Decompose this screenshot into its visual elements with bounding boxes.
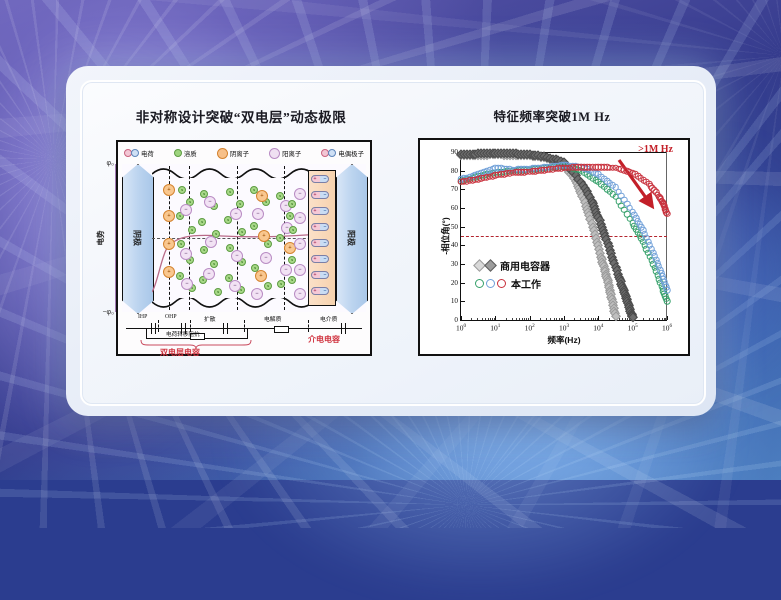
- x-tick-label: 101: [490, 323, 500, 333]
- x-minor-tick: [554, 318, 555, 320]
- legend-label-commercial: 商用电容器: [500, 258, 550, 273]
- y-tick-mark: [461, 301, 465, 302]
- x-minor-tick: [550, 318, 551, 320]
- circle-marker-green-icon: [475, 279, 484, 288]
- x-minor-tick: [643, 318, 644, 320]
- y-tick-mark: [461, 245, 465, 246]
- dipole: +−: [311, 287, 329, 295]
- y-tick-mark: [461, 283, 465, 284]
- annotation-1mhz: >1M Hz: [638, 144, 673, 155]
- y-tick-mark: [461, 227, 465, 228]
- x-tick-label: 103: [559, 323, 569, 333]
- x-minor-tick: [588, 318, 589, 320]
- schematic-box: 电荷 溶质 阴离子 阳离子: [116, 140, 372, 356]
- x-minor-tick: [519, 318, 520, 320]
- y-tick-mark: [461, 208, 465, 209]
- chart-xlabel: 频率(Hz): [547, 334, 580, 346]
- legend-label-anion: 阴离子: [230, 149, 249, 158]
- axis-label-neg-phi0: −φ₀: [102, 309, 114, 316]
- y-tick-label: 20: [451, 279, 458, 287]
- dipole: +−: [311, 175, 329, 183]
- anode-electrode: 阳极: [336, 164, 366, 312]
- circle-marker-red-icon: [497, 279, 506, 288]
- left-panel: 非对称设计突破“双电层”动态极限 电荷 溶质 阴离子: [82, 82, 400, 404]
- y-tick-label: 30: [451, 260, 458, 268]
- x-minor-tick: [593, 318, 594, 320]
- circle-marker-blue-icon: [486, 279, 495, 288]
- electrolyte-solution: + + + + s s s s s s s s − −: [152, 164, 336, 312]
- x-minor-tick: [522, 318, 523, 320]
- resistor-electrolyte: [274, 326, 289, 333]
- schematic-legend: 电荷 溶质 阴离子 阳离子: [122, 145, 366, 161]
- circuit-label-edl-capacitance: 双电层电容: [160, 347, 200, 358]
- x-minor-tick: [485, 318, 486, 320]
- legend-label-cation: 阳离子: [282, 149, 301, 158]
- region-label-electrolyte: 电解质: [264, 314, 281, 323]
- x-minor-tick: [482, 318, 483, 320]
- diamond-marker-dark-icon: [484, 259, 497, 272]
- y-tick-label: 40: [451, 241, 458, 249]
- axis-label-phi0: φ₀: [107, 160, 114, 167]
- circuit-label-charge-transfer: 电荷转移阻抗: [166, 330, 200, 338]
- capacitor-dielectric: [340, 323, 347, 334]
- x-tick-label: 105: [628, 323, 638, 333]
- y-tick-label: 10: [451, 297, 458, 305]
- data-point: [664, 210, 671, 217]
- content-card: 非对称设计突破“双电层”动态极限 电荷 溶质 阴离子: [80, 80, 706, 406]
- x-minor-tick: [574, 318, 575, 320]
- x-tick-mark: [564, 316, 565, 320]
- x-minor-tick: [516, 318, 517, 320]
- legend-row-this-work: 本工作: [475, 276, 550, 291]
- legend-item-cation: 阳离子: [269, 148, 301, 159]
- x-minor-tick: [559, 318, 560, 320]
- y-tick-label: 70: [451, 185, 458, 193]
- x-minor-tick: [540, 318, 541, 320]
- circuit-label-dielectric-capacitance: 介电电容: [308, 334, 340, 345]
- legend-label-this-work: 本工作: [511, 276, 541, 291]
- legend-item-anion: 阴离子: [217, 148, 249, 159]
- x-minor-tick: [556, 318, 557, 320]
- x-tick-mark: [598, 316, 599, 320]
- legend-label-solute: 溶质: [184, 149, 197, 158]
- y-tick-mark: [461, 189, 465, 190]
- y-tick-label: 80: [451, 167, 458, 175]
- equivalent-circuit: IHP OHP 扩散 电解质 电介质: [122, 314, 366, 350]
- anode-label: 阳极: [346, 230, 357, 246]
- region-label-dielectric: 电介质: [320, 314, 337, 323]
- x-tick-label: 102: [525, 323, 535, 333]
- x-minor-tick: [591, 318, 592, 320]
- x-minor-tick: [622, 318, 623, 320]
- x-minor-tick: [524, 318, 525, 320]
- dipole: +−: [311, 239, 329, 247]
- x-minor-tick: [653, 318, 654, 320]
- dipole: +−: [311, 271, 329, 279]
- potential-axis: φ₀ −φ₀ 电势: [96, 164, 116, 312]
- x-tick-mark: [530, 316, 531, 320]
- data-point: [664, 298, 671, 305]
- dipole: +−: [311, 207, 329, 215]
- cathode-label: 阴极: [132, 230, 143, 246]
- x-minor-tick: [546, 318, 547, 320]
- x-tick-label: 104: [593, 323, 603, 333]
- legend-item-charge: 电荷: [124, 149, 154, 158]
- x-minor-tick: [619, 318, 620, 320]
- data-point: [664, 287, 671, 294]
- dipole: +−: [311, 223, 329, 231]
- anion-icon: [217, 148, 228, 159]
- x-minor-tick: [627, 318, 628, 320]
- dipole: +−: [311, 255, 329, 263]
- x-tick-label: 100: [456, 323, 466, 333]
- axis-name-potential: 电势: [95, 231, 106, 246]
- x-tick-mark: [495, 316, 496, 320]
- phase-angle-plot: -相位角(°) 频率(Hz) >1M Hz 商用电容器: [460, 152, 667, 321]
- region-label-diffusion: 扩散: [204, 314, 216, 323]
- x-tick-mark: [461, 316, 462, 320]
- x-minor-tick: [506, 318, 507, 320]
- y-tick-label: 50: [451, 223, 458, 231]
- x-tick-mark: [667, 316, 668, 320]
- region-label-ihp: IHP: [138, 314, 147, 320]
- x-minor-tick: [490, 318, 491, 320]
- right-panel-title: 特征频率突破1M Hz: [400, 106, 704, 125]
- x-minor-tick: [625, 318, 626, 320]
- region-label-ohp: OHP: [165, 314, 177, 320]
- x-minor-tick: [609, 318, 610, 320]
- y-tick-mark: [461, 171, 465, 172]
- charge-icon: [124, 149, 139, 157]
- chart-legend: 商用电容器 本工作: [475, 258, 550, 294]
- x-minor-tick: [477, 318, 478, 320]
- legend-row-commercial: 商用电容器: [475, 258, 550, 273]
- x-minor-tick: [659, 318, 660, 320]
- chart-box: -相位角(°) 频率(Hz) >1M Hz 商用电容器: [418, 138, 690, 356]
- x-minor-tick: [580, 318, 581, 320]
- legend-label-charge: 电荷: [141, 149, 154, 158]
- solute-icon: [174, 149, 182, 157]
- legend-item-solute: 溶质: [174, 149, 197, 158]
- dipole: +−: [311, 191, 329, 199]
- x-minor-tick: [512, 318, 513, 320]
- dielectric-layer: +− +− +− +− +− +− +− +−: [308, 170, 336, 306]
- y-tick-label: 60: [451, 204, 458, 212]
- left-panel-title: 非对称设计突破“双电层”动态极限: [82, 106, 400, 126]
- x-minor-tick: [662, 318, 663, 320]
- x-minor-tick: [471, 318, 472, 320]
- right-panel: 特征频率突破1M Hz -相位角(°) 频率(Hz) >1M Hz: [400, 82, 704, 404]
- electrochemical-cell: 阴极 阳极: [122, 164, 366, 312]
- x-tick-label: 106: [662, 323, 672, 333]
- cation-icon: [269, 148, 280, 159]
- x-minor-tick: [657, 318, 658, 320]
- dipole-icon: [321, 149, 336, 157]
- y-tick-mark: [461, 264, 465, 265]
- cathode-electrode: 阴极: [122, 164, 152, 312]
- x-minor-tick: [585, 318, 586, 320]
- x-minor-tick: [649, 318, 650, 320]
- legend-label-dipole: 电偶极子: [338, 149, 364, 158]
- legend-item-dipole: 电偶极子: [321, 149, 364, 158]
- x-minor-tick: [488, 318, 489, 320]
- y-tick-mark: [461, 320, 465, 321]
